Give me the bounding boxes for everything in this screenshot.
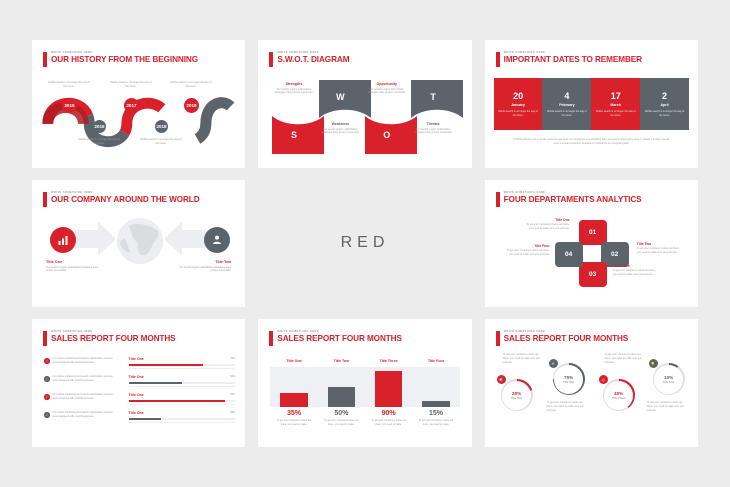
column-headings: Title One Title Two Title Three Title Fo…	[270, 359, 459, 363]
bar-cell[interactable]	[270, 367, 317, 407]
donut-caption: To get your company's name out there, yo…	[605, 353, 645, 364]
column-footer: 15% To get your company's name out there…	[412, 410, 459, 426]
swot-text: Threats Our search engine optimization s…	[411, 122, 455, 135]
row-bar: Title One 30%	[129, 411, 236, 422]
dept-text-02: Title Two To get your company's name out…	[637, 242, 682, 255]
bar-value: 15%	[416, 410, 455, 417]
donut-value: 40%	[614, 391, 623, 396]
row-bar: Title One 90%	[129, 393, 236, 404]
slide-title: SALES REPORT FOUR MONTHS	[504, 334, 688, 344]
bar-cell[interactable]	[318, 367, 365, 407]
slide-header: WRITE SOMETHING HERE SALES REPORT FOUR M…	[43, 330, 235, 344]
swot-text: Weakness Our search engine optimization …	[319, 122, 363, 135]
date-number: 2	[662, 91, 667, 101]
slide-our-history[interactable]: WRITE SOMETHING HERE OUR HISTORY FROM TH…	[32, 40, 245, 168]
column-footer: 35% To get your company's name out there…	[270, 410, 317, 426]
dates-footnote: Product should meet a certain consumer d…	[511, 138, 672, 145]
accent-bar	[496, 52, 500, 67]
row-percent: 30%	[230, 411, 235, 414]
dates-row: 20 January Mobile search is no longer th…	[494, 78, 689, 130]
history-caption: Mobile search is no longer the way of th…	[170, 81, 212, 88]
check-icon: ✓	[44, 358, 50, 364]
bar-track	[129, 418, 236, 420]
accent-bar	[269, 52, 273, 67]
check-icon: ✓	[44, 376, 50, 382]
departments-diagram: 01 02 03 04 Title One To get your compan…	[485, 212, 698, 290]
row-divider	[129, 422, 236, 423]
row-heading: Title One	[129, 375, 236, 379]
slide-important-dates[interactable]: WRITE SOMETHING HERE IMPORTANT DATES TO …	[485, 40, 698, 168]
sales-list-row[interactable]: ✓ Our online marketing and search optimi…	[44, 411, 235, 429]
history-node[interactable]: 2018	[155, 120, 168, 133]
donut-label: Title Three	[612, 397, 625, 400]
slide-title: IMPORTANT DATES TO REMEMBER	[504, 55, 688, 65]
history-caption: Mobile search is no longer the way of th…	[48, 81, 90, 88]
slide-sales-report-list[interactable]: WRITE SOMETHING HERE SALES REPORT FOUR M…	[32, 319, 245, 447]
bar-caption: To get your company's name out there, yo…	[274, 419, 313, 426]
date-month: April	[660, 103, 668, 107]
slide-header: WRITE SOMETHING HERE SALES REPORT FOUR M…	[269, 330, 461, 344]
column-footer: 90% To get your company's name out there…	[365, 410, 412, 426]
donut-value: 20%	[512, 391, 521, 396]
row-divider	[129, 404, 236, 405]
dept-text-03: Title Three To get your company's name o…	[613, 264, 658, 277]
row-bar: Title One 50%	[129, 375, 236, 386]
bar-cell[interactable]	[412, 367, 459, 407]
slide-deck-grid: WRITE SOMETHING HERE OUR HISTORY FROM TH…	[0, 0, 730, 487]
column-heading: Title Two	[318, 359, 365, 363]
date-cell[interactable]: 17 March Mobile search is no longer the …	[591, 78, 640, 130]
slide-sales-report-columns[interactable]: WRITE SOMETHING HERE SALES REPORT FOUR M…	[258, 319, 471, 447]
bar-cell[interactable]	[365, 367, 412, 407]
slide-title: S.W.O.T. DIAGRAM	[277, 55, 461, 65]
date-number: 4	[564, 91, 569, 101]
history-timeline: 2015 2016 2017 2018 2019 Mobile search i…	[32, 76, 245, 160]
history-caption: Mobile search is no longer the way of th…	[140, 138, 182, 145]
accent-bar	[43, 52, 47, 67]
row-percent: 70%	[230, 357, 235, 360]
date-cell[interactable]: 4 February Mobile search is no longer th…	[542, 78, 591, 130]
sales-list-row[interactable]: ✓ Our online marketing and search optimi…	[44, 375, 235, 393]
row-body: Our online marketing and search optimiza…	[53, 375, 117, 382]
slide-header: WRITE SOMETHING HERE FOUR DEPARTAMENTS A…	[496, 191, 688, 205]
date-number: 20	[513, 91, 523, 101]
date-month: January	[511, 103, 525, 107]
donut-row: 20% Title One 📢 To get your company's na…	[491, 353, 692, 433]
brand-wordmark: RED	[258, 180, 471, 308]
swot-item-o[interactable]: Opportunity Our search engine optimizati…	[365, 80, 409, 154]
row-bar: Title One 70%	[129, 357, 236, 368]
bar	[280, 393, 307, 407]
swot-item-w[interactable]: W Weakness Our search engine optimizatio…	[319, 80, 363, 154]
slide-title: SALES REPORT FOUR MONTHS	[277, 334, 461, 344]
donut-chart: 75% Title Two	[553, 363, 585, 395]
bar-fill	[129, 400, 225, 402]
bar-chart-icon	[50, 227, 76, 253]
accent-bar	[43, 331, 47, 346]
history-wave-graphic	[32, 76, 245, 160]
donut-chart: 20% Title One	[501, 379, 533, 411]
row-heading: Title One	[129, 357, 236, 361]
donut-label: Title Four	[663, 381, 675, 384]
donut-caption: To get your company's name out there, yo…	[547, 401, 587, 412]
swot-letter: T	[411, 80, 455, 114]
row-divider	[129, 368, 236, 369]
accent-bar	[269, 331, 273, 346]
user-idea-icon	[204, 227, 230, 253]
history-node[interactable]: 2017	[124, 98, 139, 113]
donut-value: 75%	[564, 375, 573, 380]
megaphone-icon: 📢	[497, 375, 506, 384]
world-left-text: Title One Our search engine optimization…	[46, 260, 100, 273]
donut-value: 10%	[664, 375, 673, 380]
history-caption: Mobile search is no longer the way of th…	[110, 81, 152, 88]
date-body: Mobile search is no longer the way of th…	[595, 110, 636, 117]
bar-fill	[129, 382, 182, 384]
swot-letter: S	[272, 116, 316, 154]
dept-box-01[interactable]: 01	[579, 220, 607, 245]
bar-track	[129, 400, 236, 402]
accent-bar	[496, 331, 500, 346]
donut-label: Title One	[511, 397, 522, 400]
swot-text: Strengths Our search engine optimization…	[272, 82, 316, 95]
slide-header: WRITE SOMETHING HERE OUR HISTORY FROM TH…	[43, 51, 235, 65]
column-heading: Title Three	[365, 359, 412, 363]
donut-caption: To get your company's name out there, yo…	[647, 401, 687, 412]
slide-swot-diagram[interactable]: WRITE SOMETHING HERE S.W.O.T. DIAGRAM St…	[258, 40, 471, 168]
swot-columns: Strengths Our search engine optimization…	[270, 80, 459, 154]
slide-company-around-world[interactable]: WRITE SOMETHING HERE OUR COMPANY AROUND …	[32, 180, 245, 308]
bar-caption: To get your company's name out there, yo…	[322, 419, 361, 426]
donut-chart: 40% Title Three	[603, 379, 635, 411]
row-percent: 50%	[230, 375, 235, 378]
slide-title: OUR HISTORY FROM THE BEGINNING	[51, 55, 235, 65]
row-body: Our online marketing and search optimiza…	[53, 411, 117, 418]
sales-list: ✓ Our online marketing and search optimi…	[44, 357, 235, 429]
bar-fill	[129, 418, 161, 420]
bar-caption: To get your company's name out there, yo…	[416, 419, 455, 426]
row-heading: Title One	[129, 411, 236, 415]
slide-header: WRITE SOMETHING HERE IMPORTANT DATES TO …	[496, 51, 688, 65]
row-heading: Title One	[129, 393, 236, 397]
slide-sales-report-donuts[interactable]: WRITE SOMETHING HERE SALES REPORT FOUR M…	[485, 319, 698, 447]
date-body: Mobile search is no longer the way of th…	[546, 110, 587, 117]
swot-item-t[interactable]: T Threats Our search engine optimization…	[411, 80, 455, 154]
dept-box-03[interactable]: 03	[579, 262, 607, 287]
date-body: Mobile search is no longer the way of th…	[644, 110, 685, 117]
bar-value: 35%	[274, 410, 313, 417]
date-body: Mobile search is no longer the way of th…	[498, 110, 539, 117]
bar-fill	[129, 364, 204, 366]
row-divider	[129, 386, 236, 387]
dept-text-01: Title One To get your company's name out…	[525, 218, 570, 231]
column-footers: 35% To get your company's name out there…	[270, 410, 459, 426]
donut-chart: 10% Title Four	[653, 363, 685, 395]
dept-text-04: Title Four To get your company's name ou…	[505, 244, 550, 257]
check-icon: ✓	[44, 394, 50, 400]
slide-header: WRITE SOMETHING HERE SALES REPORT FOUR M…	[496, 330, 688, 344]
accent-bar	[43, 192, 47, 207]
paper-plane-icon: ✈	[549, 359, 558, 368]
dept-box-04[interactable]: 04	[555, 242, 583, 267]
history-node[interactable]: 2015	[62, 98, 77, 113]
bar-track	[129, 382, 236, 384]
slide-title: OUR COMPANY AROUND THE WORLD	[51, 195, 235, 205]
history-node[interactable]: 2019	[184, 98, 199, 113]
bar-chart-plot	[270, 367, 459, 407]
date-month: February	[559, 103, 574, 107]
row-body: Our online marketing and search optimiza…	[53, 393, 117, 400]
date-cell[interactable]: 2 April Mobile search is no longer the w…	[640, 78, 689, 130]
lightbulb-icon: 💡	[649, 359, 658, 368]
date-number: 17	[611, 91, 621, 101]
sales-list-row[interactable]: ✓ Our online marketing and search optimi…	[44, 393, 235, 411]
bar-caption: To get your company's name out there, yo…	[369, 419, 408, 426]
slide-header: WRITE SOMETHING HERE S.W.O.T. DIAGRAM	[269, 51, 461, 65]
bar	[422, 401, 449, 407]
date-cell[interactable]: 20 January Mobile search is no longer th…	[494, 78, 543, 130]
world-right-text: Title Two Our search engine optimization…	[177, 260, 231, 273]
check-icon: ✓	[44, 412, 50, 418]
donut-label: Title Two	[563, 381, 574, 384]
history-node[interactable]: 2016	[93, 120, 106, 133]
row-percent: 90%	[230, 393, 235, 396]
slide-brand-logo[interactable]: RED	[258, 180, 471, 308]
sales-list-row[interactable]: ✓ Our online marketing and search optimi…	[44, 357, 235, 375]
column-heading: Title One	[270, 359, 317, 363]
world-diagram: Title One Our search engine optimization…	[32, 214, 245, 284]
date-month: March	[610, 103, 621, 107]
bar	[375, 371, 402, 407]
bar	[328, 387, 355, 407]
slide-title: FOUR DEPARTAMENTS ANALYTICS	[504, 195, 688, 205]
accent-bar	[496, 192, 500, 207]
slide-title: SALES REPORT FOUR MONTHS	[51, 334, 235, 344]
swot-letter: W	[319, 80, 363, 114]
slide-departments-analytics[interactable]: WRITE SOMETHING HERE FOUR DEPARTAMENTS A…	[485, 180, 698, 308]
swot-item-s[interactable]: Strengths Our search engine optimization…	[272, 80, 316, 154]
swot-text: Opportunity Our search engine optimizati…	[365, 82, 409, 95]
column-heading: Title Four	[412, 359, 459, 363]
history-caption: Mobile search is no longer the way of th…	[78, 138, 120, 145]
slide-header: WRITE SOMETHING HERE OUR COMPANY AROUND …	[43, 191, 235, 205]
bar-track	[129, 364, 236, 366]
bar-value: 50%	[322, 410, 361, 417]
swot-letter: O	[365, 116, 409, 154]
donut-caption: To get your company's name out there, yo…	[503, 353, 543, 364]
target-icon: ◎	[599, 375, 608, 384]
column-footer: 50% To get your company's name out there…	[318, 410, 365, 426]
bar-value: 90%	[369, 410, 408, 417]
row-body: Our online marketing and search optimiza…	[53, 357, 117, 364]
